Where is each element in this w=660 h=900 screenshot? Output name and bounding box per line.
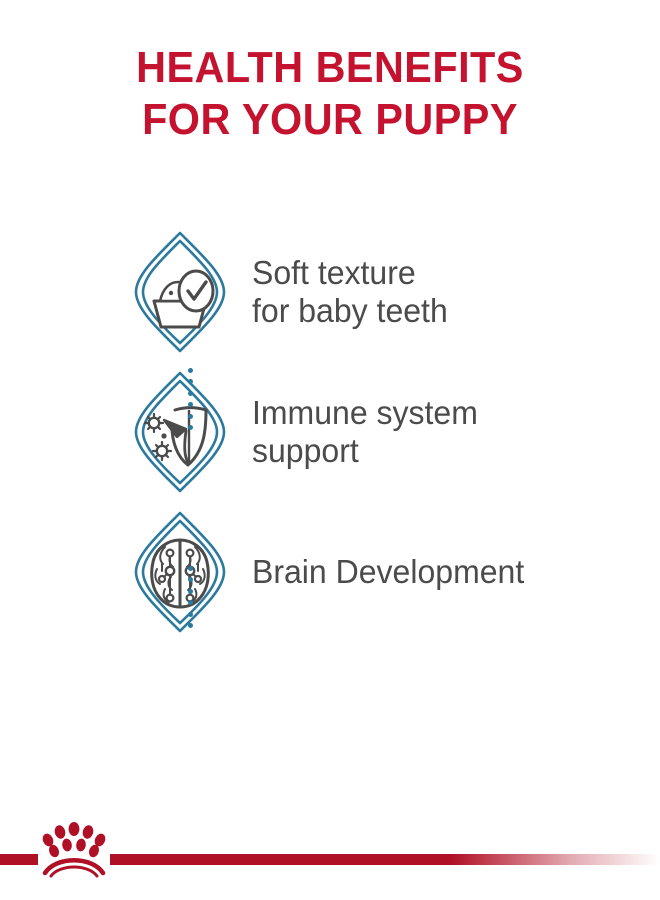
connector-dot xyxy=(188,379,193,384)
connector-dot xyxy=(188,612,193,617)
benefit-label: Immune system support xyxy=(252,394,478,470)
benefit-item-immune-system: Immune system support xyxy=(0,362,660,502)
connector-dot xyxy=(188,566,193,571)
connector-dot xyxy=(188,391,193,396)
brain-circuit-icon xyxy=(130,509,230,635)
royal-canin-crown-logo xyxy=(38,820,110,880)
page-title-line-2: FOR YOUR PUPPY xyxy=(20,94,640,146)
connector-dots-2 xyxy=(186,566,194,628)
connector-dot xyxy=(188,425,193,430)
connector-dot xyxy=(188,368,193,373)
benefit-item-soft-texture: Soft texture for baby teeth xyxy=(0,222,660,362)
connector-dot xyxy=(188,414,193,419)
footer-rule-right xyxy=(110,854,660,865)
benefits-list: Soft texture for baby teeth xyxy=(0,222,660,642)
benefit-item-brain-development: Brain Development xyxy=(0,502,660,642)
benefit-label: Brain Development xyxy=(252,553,524,591)
page-title: HEALTH BENEFITS FOR YOUR PUPPY xyxy=(20,42,640,146)
connector-dot xyxy=(188,577,193,582)
connector-dot xyxy=(188,623,193,628)
footer-rule-left xyxy=(0,854,38,865)
shield-germs-icon xyxy=(130,369,230,495)
food-bowl-check-icon xyxy=(130,229,230,355)
connector-dot xyxy=(188,600,193,605)
connector-dots-1 xyxy=(186,368,194,430)
connector-dot xyxy=(188,589,193,594)
benefit-label: Soft texture for baby teeth xyxy=(252,254,448,330)
page-title-line-1: HEALTH BENEFITS xyxy=(20,42,640,94)
connector-dot xyxy=(188,402,193,407)
